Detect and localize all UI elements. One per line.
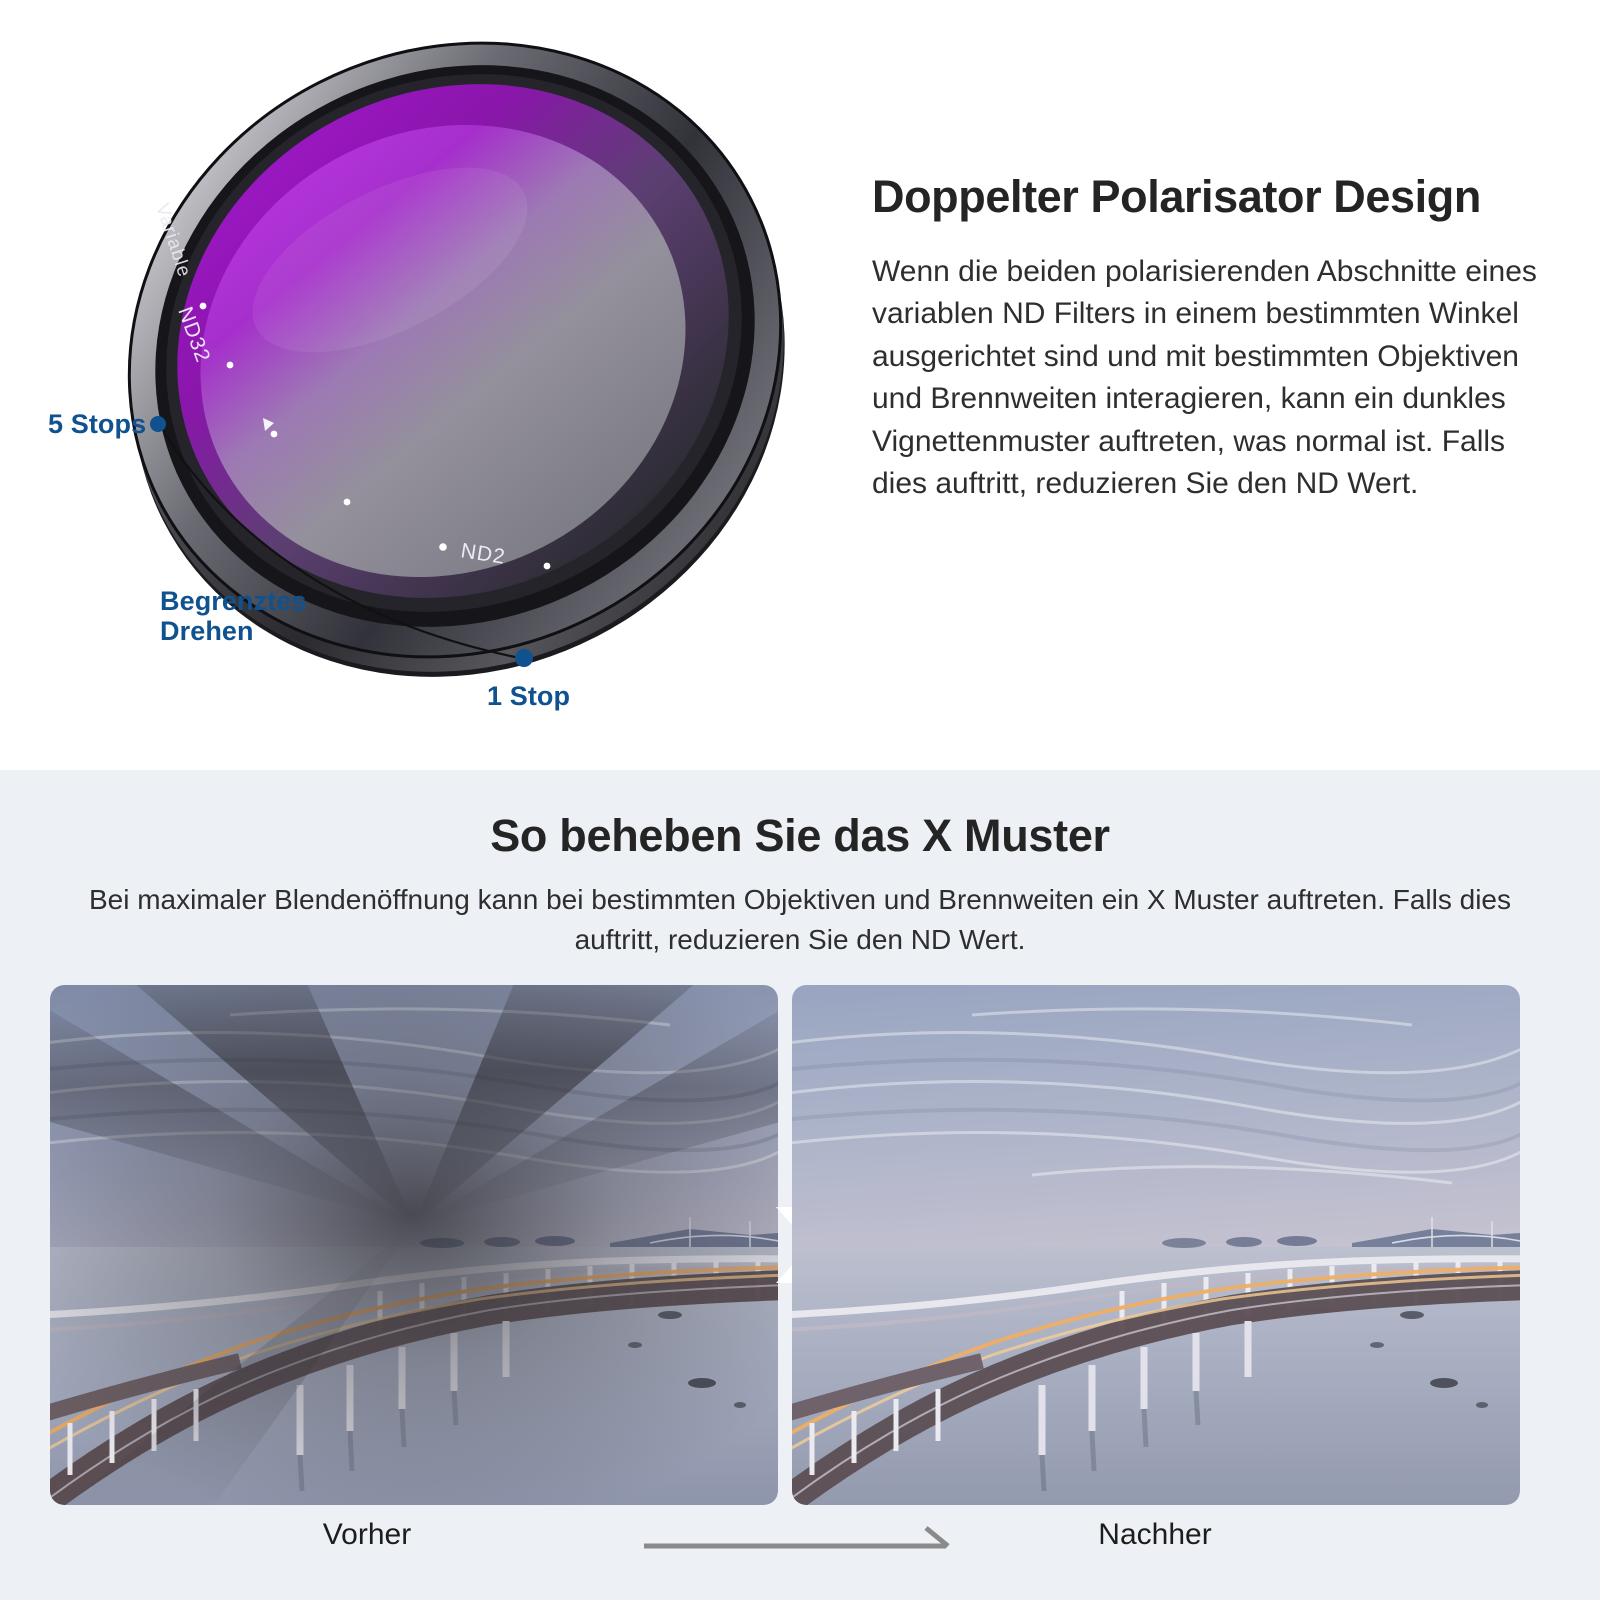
callout-five-stops: 5 Stops <box>48 409 146 439</box>
product-infographic-page: Variable ND32 ND2 5 Stops Begrenztes Dre… <box>0 0 1600 1600</box>
caption-after: Nachher <box>1098 1518 1211 1552</box>
after-photo <box>792 985 1520 1505</box>
x-pattern-section: So beheben Sie das X Muster Bei maximale… <box>0 770 1600 1600</box>
bottom-subtitle: Bei maximaler Blendenöffnung kann bei be… <box>60 880 1540 961</box>
before-photo <box>50 985 778 1505</box>
caption-before: Vorher <box>323 1518 411 1552</box>
callout-limited-rotation: Begrenztes Drehen <box>160 586 307 646</box>
top-heading: Doppelter Polarisator Design <box>872 172 1562 222</box>
bottom-heading: So beheben Sie das X Muster <box>0 810 1600 862</box>
before-after-comparison <box>50 985 1550 1505</box>
top-paragraph: Wenn die beiden polarisierenden Abschnit… <box>872 222 1562 507</box>
progress-arrow-icon <box>640 1522 960 1556</box>
after-photo-card <box>792 985 1520 1505</box>
top-text-block: Doppelter Polarisator Design Wenn die be… <box>872 172 1562 506</box>
callout-one-stop: 1 Stop <box>487 681 570 711</box>
x-pattern-vignette <box>50 985 778 1505</box>
before-photo-card <box>50 985 778 1505</box>
double-polarizer-section: Variable ND32 ND2 5 Stops Begrenztes Dre… <box>0 0 1600 770</box>
